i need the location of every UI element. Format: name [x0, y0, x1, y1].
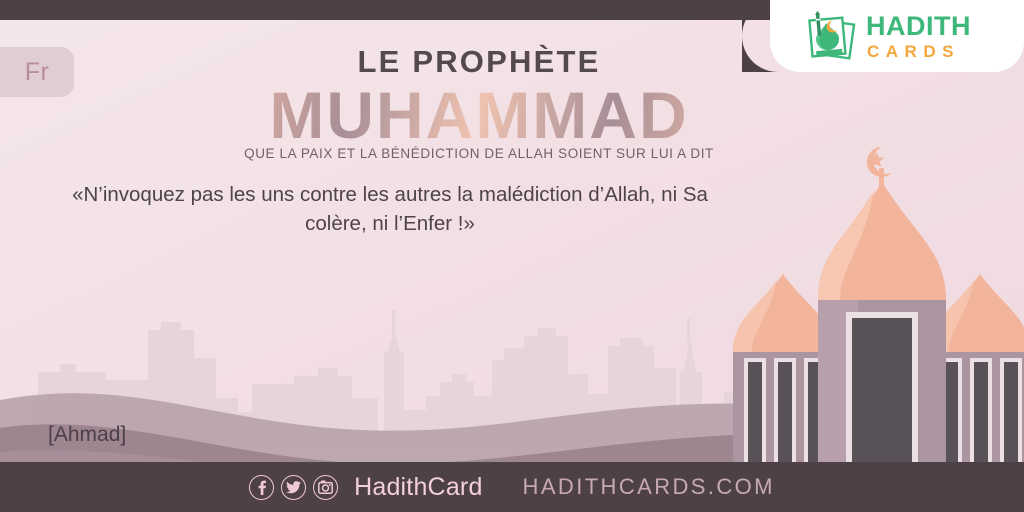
logo-secondary-text: CARDS	[867, 43, 971, 60]
prophet-name: MUHAMMAD	[0, 82, 1024, 148]
mosque-illustration	[726, 147, 1024, 470]
instagram-icon[interactable]	[313, 475, 338, 500]
brand-logo-panel[interactable]: HADITH CARDS	[770, 0, 1024, 72]
footer-bar: HadithCard HADITHCARDS.COM	[0, 462, 1024, 512]
social-handle: HadithCard	[354, 473, 482, 502]
hadith-source: [Ahmad]	[48, 423, 126, 447]
social-links: HadithCard	[249, 473, 482, 502]
hadith-quote: «N’invoquez pas les uns contre les autre…	[40, 180, 740, 238]
twitter-icon[interactable]	[281, 475, 306, 500]
website-url: HADITHCARDS.COM	[523, 474, 775, 500]
blessing-line: QUE LA PAIX ET LA BÉNÉDICTION DE ALLAH S…	[0, 146, 1024, 161]
hadith-card: HADITH CARDS Fr LE PROPHÈTE MUHAMMAD QUE…	[0, 0, 1024, 512]
mosque-photo-card-icon	[804, 10, 858, 62]
logo-primary-text: HADITH	[866, 13, 971, 40]
facebook-icon[interactable]	[249, 475, 274, 500]
